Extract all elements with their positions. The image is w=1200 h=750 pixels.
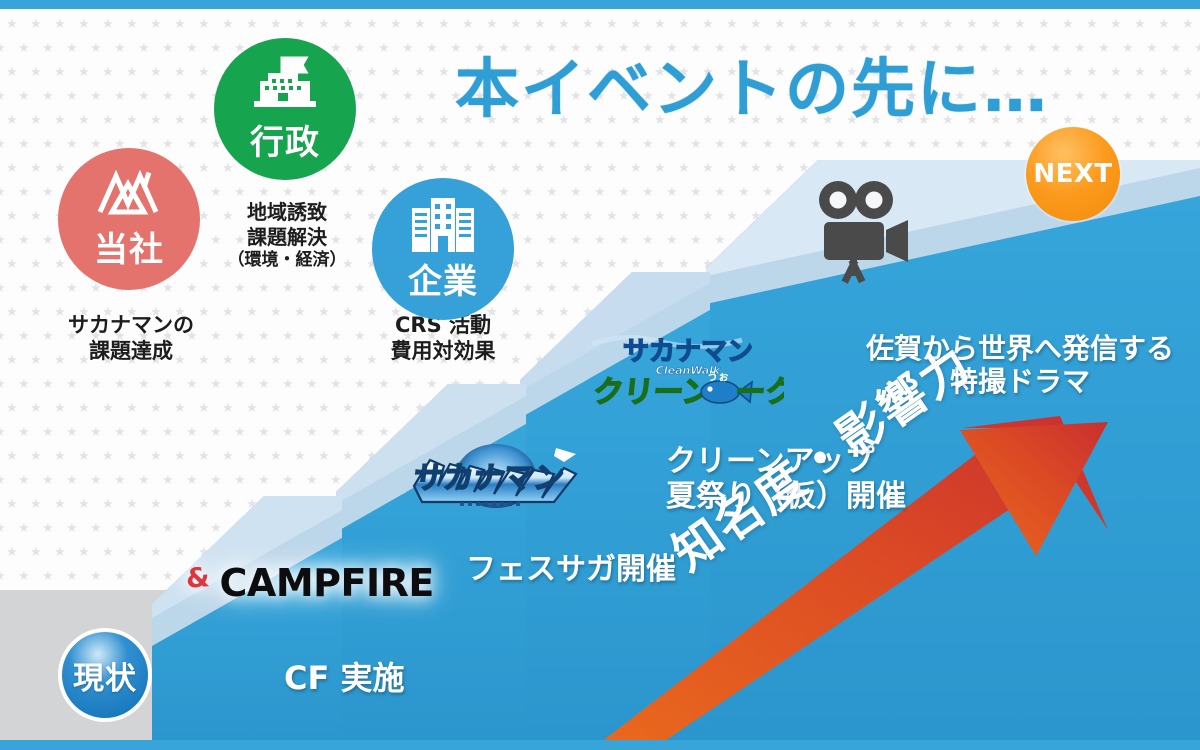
page-title: 本イベントの先に…	[455, 38, 1049, 130]
government-building-icon	[246, 55, 324, 115]
badge-current-state-label: 現状	[73, 653, 137, 698]
caption-government: 地域誘致 課題解決 （環境・経済）	[222, 200, 352, 271]
step-label-1: CF 実施	[284, 660, 405, 698]
campfire-wordmark: CAMPFIRE	[220, 564, 434, 602]
bottom-accent-bar	[0, 740, 1200, 750]
badge-corporate-label: 企業	[408, 254, 478, 303]
step-label-2: フェスサガ開催	[466, 552, 676, 587]
badge-company-label: 当社	[94, 222, 164, 271]
sakanaman-logo-icon: サカナマン	[404, 440, 584, 516]
sakanaman-logo-text: サカナマン	[411, 461, 566, 496]
caption-government-line3: （環境・経済）	[222, 250, 352, 271]
svg-text:うぉ: うぉ	[707, 370, 729, 383]
caption-government-line1: 地域誘致	[222, 200, 352, 225]
badge-company[interactable]: 当社	[58, 148, 200, 290]
badge-corporate[interactable]: 企業	[372, 178, 514, 320]
step-block-1	[152, 496, 342, 740]
caption-company-line2: 課題達成	[36, 338, 226, 364]
badge-current-state[interactable]: 現状	[58, 628, 152, 722]
campfire-logo[interactable]: & CAMPFIRE	[186, 564, 434, 602]
badge-next[interactable]: NEXT	[1026, 127, 1120, 221]
badge-government-label: 行政	[250, 115, 320, 164]
sakanaman-cleanwalk-logo-icon: サカナマン CleanWalk クリーン うぉ ーク	[592, 330, 784, 410]
office-buildings-icon	[404, 196, 482, 254]
cleanwalk-tail-text: ーク	[734, 375, 784, 410]
badge-government[interactable]: 行政	[214, 38, 356, 180]
caption-company-line1: サカナマンの	[36, 312, 226, 338]
movie-camera-icon	[812, 178, 916, 286]
sakanaman-logo[interactable]: サカナマン	[404, 440, 584, 520]
campfire-flame-icon: &	[185, 564, 210, 593]
company-logo-mark-icon	[94, 168, 164, 220]
caption-government-line2: 課題解決	[222, 225, 352, 250]
cleanwalk-top-text: サカナマン	[623, 337, 753, 367]
infographic-canvas: ★★★★★★★★★★★★★★★★★★★★★★★★★★★★★★★★★★★★★★★★…	[0, 0, 1200, 750]
top-accent-bar	[0, 0, 1200, 9]
caption-company: サカナマンの 課題達成	[36, 312, 226, 365]
badge-next-label: NEXT	[1033, 159, 1112, 189]
cleanwalk-main-text: クリーン	[592, 375, 714, 410]
caption-corporate-line2: 費用対効果	[372, 338, 514, 364]
sakanaman-cleanwalk-logo[interactable]: サカナマン CleanWalk クリーン うぉ ーク	[592, 330, 784, 414]
